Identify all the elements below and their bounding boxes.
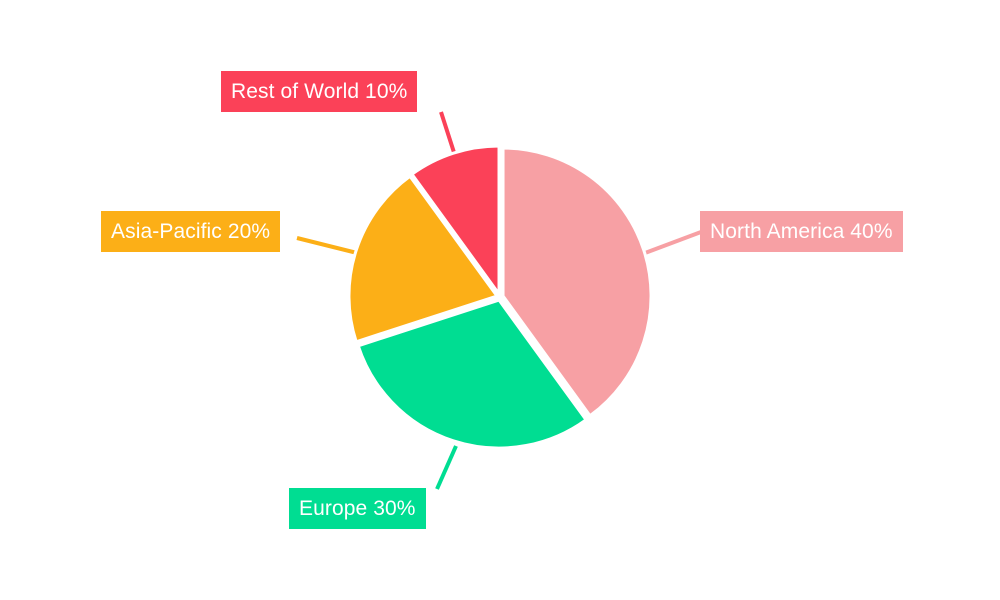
pie-label-rest-of-world[interactable]: Rest of World 10%	[221, 71, 417, 112]
pie-label-europe-text: Europe 30%	[299, 488, 416, 529]
leader-line-north-america	[645, 232, 701, 253]
pie-label-asia-pacific[interactable]: Asia-Pacific 20%	[101, 211, 280, 252]
pie-label-north-america[interactable]: North America 40%	[700, 211, 903, 252]
pie-label-asia-pacific-text: Asia-Pacific 20%	[111, 211, 270, 252]
pie-chart-canvas	[0, 0, 1000, 600]
pie-label-europe[interactable]: Europe 30%	[289, 488, 426, 529]
leader-line-asia-pacific	[297, 238, 361, 254]
pie-label-north-america-text: North America 40%	[710, 211, 893, 252]
pie-chart-figure: North America 40% Europe 30% Asia-Pacifi…	[0, 0, 1000, 600]
pie-slice-group	[349, 146, 651, 448]
leader-line-europe	[437, 446, 456, 489]
pie-label-rest-of-world-text: Rest of World 10%	[231, 71, 407, 112]
